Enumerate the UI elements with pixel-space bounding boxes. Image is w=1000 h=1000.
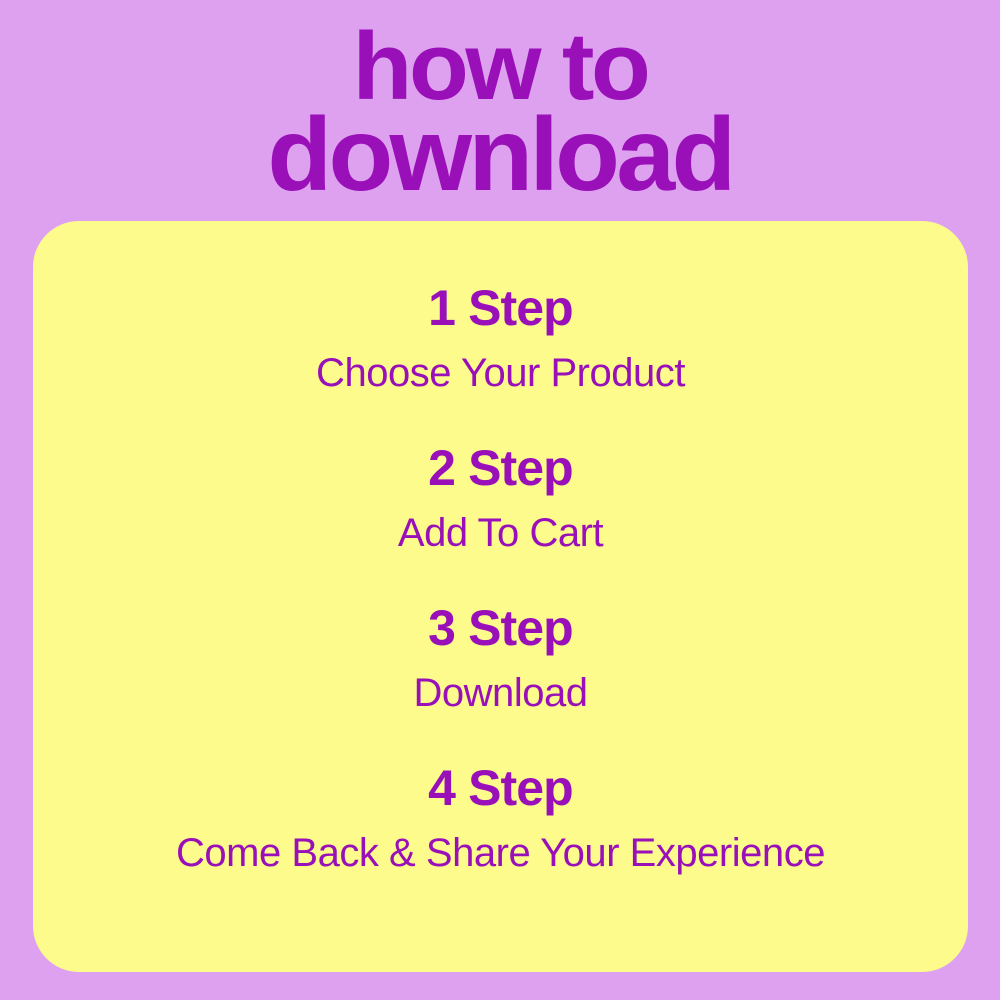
list-item: 1 Step Choose Your Product: [33, 283, 968, 393]
page-title-line-2: download: [0, 111, 1000, 200]
list-item: 2 Step Add To Cart: [33, 443, 968, 553]
step-title: 2 Step: [33, 443, 968, 493]
poster-canvas: how to download 1 Step Choose Your Produ…: [0, 0, 1000, 1000]
step-title: 4 Step: [33, 763, 968, 813]
steps-card: 1 Step Choose Your Product 2 Step Add To…: [33, 221, 968, 972]
step-subtitle: Download: [33, 673, 968, 713]
step-title: 1 Step: [33, 283, 968, 333]
step-subtitle: Add To Cart: [33, 513, 968, 553]
step-subtitle: Choose Your Product: [33, 353, 968, 393]
list-item: 4 Step Come Back & Share Your Experience: [33, 763, 968, 873]
step-subtitle: Come Back & Share Your Experience: [33, 833, 968, 873]
step-title: 3 Step: [33, 603, 968, 653]
page-title: how to download: [0, 26, 1000, 200]
list-item: 3 Step Download: [33, 603, 968, 713]
steps-list: 1 Step Choose Your Product 2 Step Add To…: [33, 283, 968, 873]
